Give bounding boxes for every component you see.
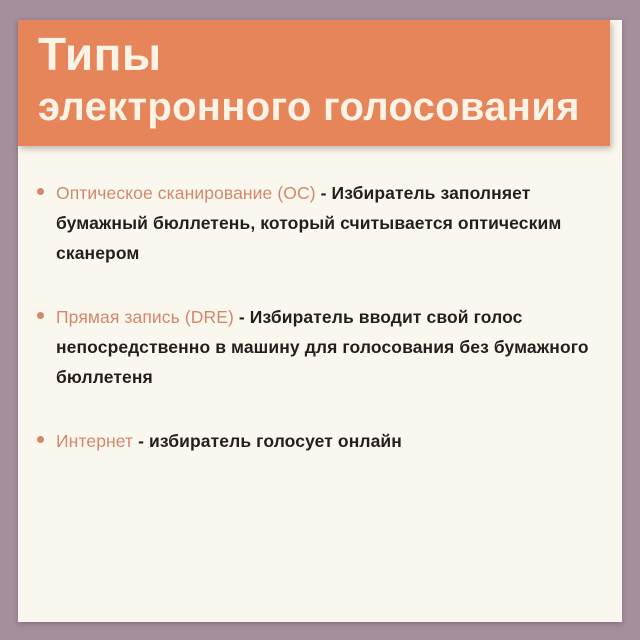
list-item-term: Прямая запись (DRE) <box>56 307 234 327</box>
bullet-dot-icon <box>37 436 44 443</box>
page-title-line-1: Типы <box>38 26 610 82</box>
content-card: Типы электронного голосования Оптическое… <box>18 20 622 622</box>
list-item-description: избиратель голосует онлайн <box>149 431 402 451</box>
list-item: Интернет - избиратель голосует онлайн <box>32 426 610 456</box>
list-item-separator: - <box>133 431 149 451</box>
bullet-dot-icon <box>37 188 44 195</box>
list-item-term: Оптическое сканирование (ОС) <box>56 183 316 203</box>
list-item-text: Интернет - избиратель голосует онлайн <box>56 426 610 456</box>
list-item: Прямая запись (DRE) - Избиратель вводит … <box>32 302 610 392</box>
bullet-list: Оптическое сканирование (ОС) - Избирател… <box>32 178 610 456</box>
list-item: Оптическое сканирование (ОС) - Избирател… <box>32 178 610 268</box>
page-title-line-2: электронного голосования <box>38 82 610 132</box>
list-item-separator: - <box>316 183 332 203</box>
title-band: Типы электронного голосования <box>18 20 610 146</box>
list-item-text: Оптическое сканирование (ОС) - Избирател… <box>56 178 610 268</box>
slide-frame: Типы электронного голосования Оптическое… <box>0 0 640 640</box>
list-item-text: Прямая запись (DRE) - Избиратель вводит … <box>56 302 610 392</box>
list-item-term: Интернет <box>56 431 133 451</box>
bullet-dot-icon <box>37 312 44 319</box>
list-item-separator: - <box>234 307 250 327</box>
